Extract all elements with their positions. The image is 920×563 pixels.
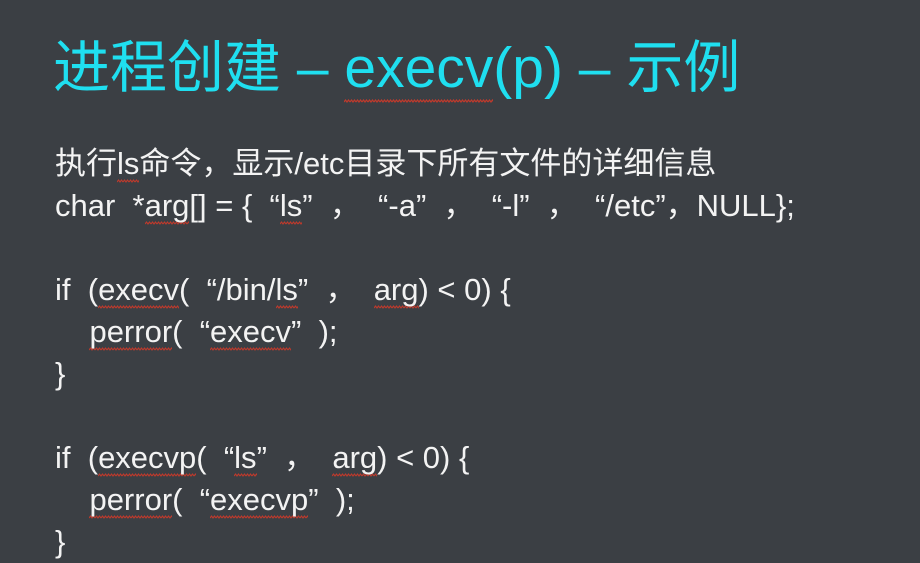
text-segment [55,398,64,433]
slide-title[interactable]: 进程创建 – execv(p) – 示例 [53,36,740,100]
text-segment: 执行 [55,146,117,181]
misspelled-word: execv [210,314,291,351]
line-perror-execvp: perror( “execvp” ); [55,479,885,521]
line-close-brace-2: } [55,521,885,563]
text-segment: [] = { “ [189,188,279,223]
line-blank-2 [55,395,885,437]
text-segment: if ( [55,272,98,307]
line-blank-1 [55,227,885,269]
text-segment: } [55,356,65,391]
text-segment [55,314,89,349]
line-close-brace-1: } [55,353,885,395]
line-if-execv: if (execv( “/bin/ls” ， arg) < 0) { [55,269,885,311]
text-segment: ” ， [257,440,333,475]
misspelled-word: ls [117,146,139,183]
line-description: 执行ls命令，显示/etc目录下所有文件的详细信息 [55,143,885,185]
misspelled-word: arg [332,440,377,477]
text-segment: if ( [55,440,98,475]
misspelled-word: execvp [98,440,196,477]
misspelled-word: ls [234,440,256,477]
misspelled-word: arg [374,272,419,309]
text-segment: ) < 0) { [377,440,469,475]
misspelled-word: ls [276,272,298,309]
text-segment: ( “/bin/ [179,272,275,307]
slide-title-suffix: (p) – 示例 [493,36,740,100]
misspelled-word: execvp [210,482,308,519]
text-segment: char * [55,188,145,223]
line-if-execvp: if (execvp( “ls” ， arg) < 0) { [55,437,885,479]
misspelled-word: execv [98,272,179,309]
text-segment: ” ， [298,272,374,307]
text-segment: ” ， “-a” ， “-l” ， “/etc”，NULL}; [302,188,795,223]
misspelled-word: ls [280,188,302,225]
text-segment: ( “ [172,482,210,517]
text-segment: ” ); [308,482,355,517]
slide-title-prefix: 进程创建 – [53,36,344,100]
text-segment: 命令，显示/etc目录下所有文件的详细信息 [139,146,716,181]
text-segment [55,482,89,517]
slide-body-text[interactable]: 执行ls命令，显示/etc目录下所有文件的详细信息char *arg[] = {… [55,143,885,563]
text-segment: } [55,524,65,559]
misspelled-word: arg [145,188,190,225]
misspelled-word: perror [89,314,172,351]
text-segment: ( “ [196,440,234,475]
presentation-slide: 进程创建 – execv(p) – 示例 执行ls命令，显示/etc目录下所有文… [0,0,920,562]
line-char-array: char *arg[] = { “ls” ， “-a” ， “-l” ， “/e… [55,185,885,227]
misspelled-word: perror [89,482,172,519]
slide-title-misspelled-word: execv [344,36,493,103]
text-segment: ( “ [172,314,210,349]
text-segment: ) < 0) { [419,272,511,307]
text-segment: ” ); [291,314,338,349]
text-segment [55,230,64,265]
line-perror-execv: perror( “execv” ); [55,311,885,353]
